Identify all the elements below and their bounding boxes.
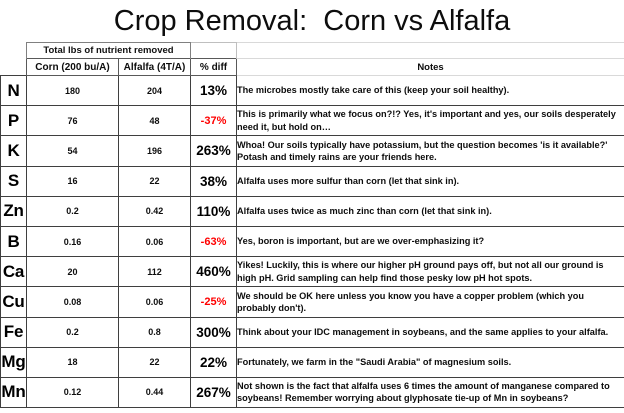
crop-removal-table: Total lbs of nutrient removed Corn (200 … [0, 42, 624, 408]
alfalfa-value-cell: 196 [119, 136, 191, 166]
note-cell: Not shown is the fact that alfalfa uses … [237, 377, 624, 407]
alfalfa-value-cell: 0.44 [119, 377, 191, 407]
table-row: Ca20112460%Yikes! Luckily, this is where… [1, 257, 624, 287]
page-title: Crop Removal: Corn vs Alfalfa [0, 2, 624, 40]
column-header-corn: Corn (200 bu/A) [27, 59, 119, 76]
nutrient-symbol-cell: Fe [1, 317, 27, 347]
note-cell: Yes, boron is important, but are we over… [237, 226, 624, 256]
nutrient-symbol-cell: S [1, 166, 27, 196]
nutrient-symbol-cell: N [1, 76, 27, 106]
alfalfa-value-cell: 204 [119, 76, 191, 106]
alfalfa-value-cell: 112 [119, 257, 191, 287]
table-row: Mg182222%Fortunately, we farm in the "Sa… [1, 347, 624, 377]
note-cell: Whoa! Our soils typically have potassium… [237, 136, 624, 166]
group-header-blank-diff [191, 43, 237, 59]
pct-diff-cell: -25% [191, 287, 237, 317]
pct-diff-cell: 300% [191, 317, 237, 347]
alfalfa-value-cell: 22 [119, 166, 191, 196]
table-column-header-row: Corn (200 bu/A) Alfalfa (4T/A) % diff No… [1, 59, 624, 76]
table-row: P7648-37%This is primarily what we focus… [1, 106, 624, 136]
pct-diff-cell: 38% [191, 166, 237, 196]
pct-diff-cell: 13% [191, 76, 237, 106]
pct-diff-cell: -63% [191, 226, 237, 256]
alfalfa-value-cell: 0.8 [119, 317, 191, 347]
table-row: Cu0.080.06-25%We should be OK here unles… [1, 287, 624, 317]
nutrient-symbol-cell: Cu [1, 287, 27, 317]
alfalfa-value-cell: 0.42 [119, 196, 191, 226]
note-cell: Fortunately, we farm in the "Saudi Arabi… [237, 347, 624, 377]
alfalfa-value-cell: 48 [119, 106, 191, 136]
corn-value-cell: 0.2 [27, 196, 119, 226]
note-cell: The microbes mostly take care of this (k… [237, 76, 624, 106]
table-row: N18020413%The microbes mostly take care … [1, 76, 624, 106]
note-cell: This is primarily what we focus on?!? Ye… [237, 106, 624, 136]
slide-canvas: Crop Removal: Corn vs Alfalfa Total lbs … [0, 0, 624, 413]
table-row: K54196263%Whoa! Our soils typically have… [1, 136, 624, 166]
corner-blank-cell [1, 43, 27, 59]
pct-diff-cell: 22% [191, 347, 237, 377]
pct-diff-cell: 267% [191, 377, 237, 407]
nutrient-symbol-cell: P [1, 106, 27, 136]
note-cell: We should be OK here unless you know you… [237, 287, 624, 317]
corn-value-cell: 0.12 [27, 377, 119, 407]
table-group-header-row: Total lbs of nutrient removed [1, 43, 624, 59]
pct-diff-cell: 110% [191, 196, 237, 226]
alfalfa-value-cell: 0.06 [119, 287, 191, 317]
column-header-notes: Notes [237, 59, 624, 76]
corn-value-cell: 54 [27, 136, 119, 166]
table-row: Mn0.120.44267%Not shown is the fact that… [1, 377, 624, 407]
note-cell: Think about your IDC management in soybe… [237, 317, 624, 347]
corn-value-cell: 180 [27, 76, 119, 106]
corn-value-cell: 18 [27, 347, 119, 377]
column-header-alfalfa: Alfalfa (4T/A) [119, 59, 191, 76]
nutrient-symbol-cell: B [1, 226, 27, 256]
nutrient-symbol-cell: Zn [1, 196, 27, 226]
table-row: Zn0.20.42110%Alfalfa uses twice as much … [1, 196, 624, 226]
table-row: B0.160.06-63%Yes, boron is important, bu… [1, 226, 624, 256]
corn-value-cell: 0.16 [27, 226, 119, 256]
pct-diff-cell: -37% [191, 106, 237, 136]
corn-value-cell: 0.08 [27, 287, 119, 317]
table-row: S162238%Alfalfa uses more sulfur than co… [1, 166, 624, 196]
alfalfa-value-cell: 22 [119, 347, 191, 377]
alfalfa-value-cell: 0.06 [119, 226, 191, 256]
column-header-pct-diff: % diff [191, 59, 237, 76]
note-cell: Alfalfa uses twice as much zinc than cor… [237, 196, 624, 226]
corn-value-cell: 76 [27, 106, 119, 136]
column-header-symbol [1, 59, 27, 76]
nutrient-symbol-cell: Mg [1, 347, 27, 377]
nutrient-symbol-cell: Mn [1, 377, 27, 407]
group-header-nutrient-removed: Total lbs of nutrient removed [27, 43, 191, 59]
note-cell: Yikes! Luckily, this is where our higher… [237, 257, 624, 287]
corn-value-cell: 20 [27, 257, 119, 287]
corn-value-cell: 16 [27, 166, 119, 196]
group-header-blank-notes [237, 43, 624, 59]
pct-diff-cell: 263% [191, 136, 237, 166]
table-row: Fe0.20.8300%Think about your IDC managem… [1, 317, 624, 347]
nutrient-symbol-cell: K [1, 136, 27, 166]
nutrient-symbol-cell: Ca [1, 257, 27, 287]
corn-value-cell: 0.2 [27, 317, 119, 347]
pct-diff-cell: 460% [191, 257, 237, 287]
note-cell: Alfalfa uses more sulfur than corn (let … [237, 166, 624, 196]
